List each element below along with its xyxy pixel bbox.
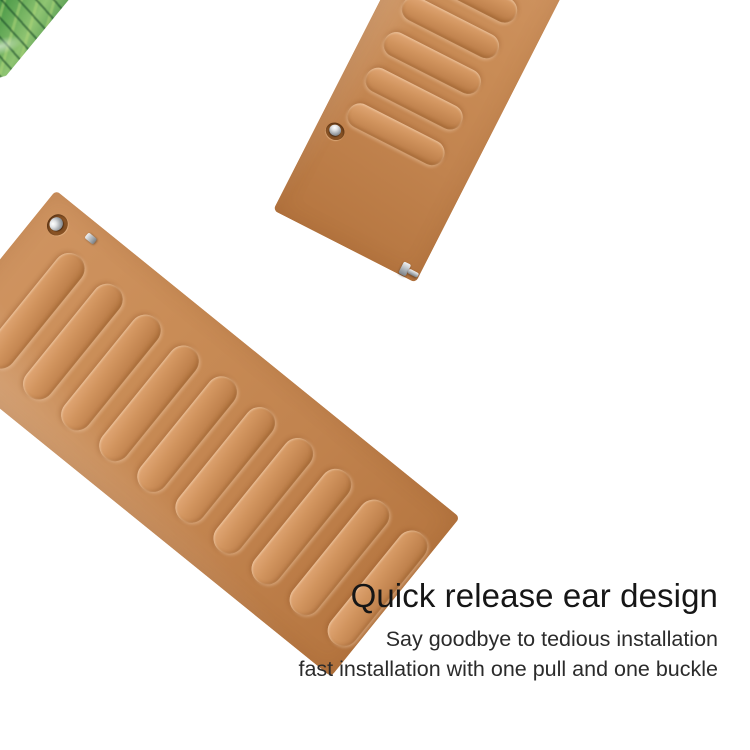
upper-strap	[0, 0, 750, 258]
upper-strap-face	[273, 0, 574, 283]
product-image-canvas: Quick release ear design Say goodbye to …	[0, 0, 750, 750]
caption-subline-1: Say goodbye to tedious installation	[198, 625, 718, 654]
upper-strap-body	[273, 0, 574, 283]
caption-headline: Quick release ear design	[198, 576, 718, 616]
caption-block: Quick release ear design Say goodbye to …	[198, 576, 718, 684]
caption-subline-2: fast installation with one pull and one …	[198, 655, 718, 684]
